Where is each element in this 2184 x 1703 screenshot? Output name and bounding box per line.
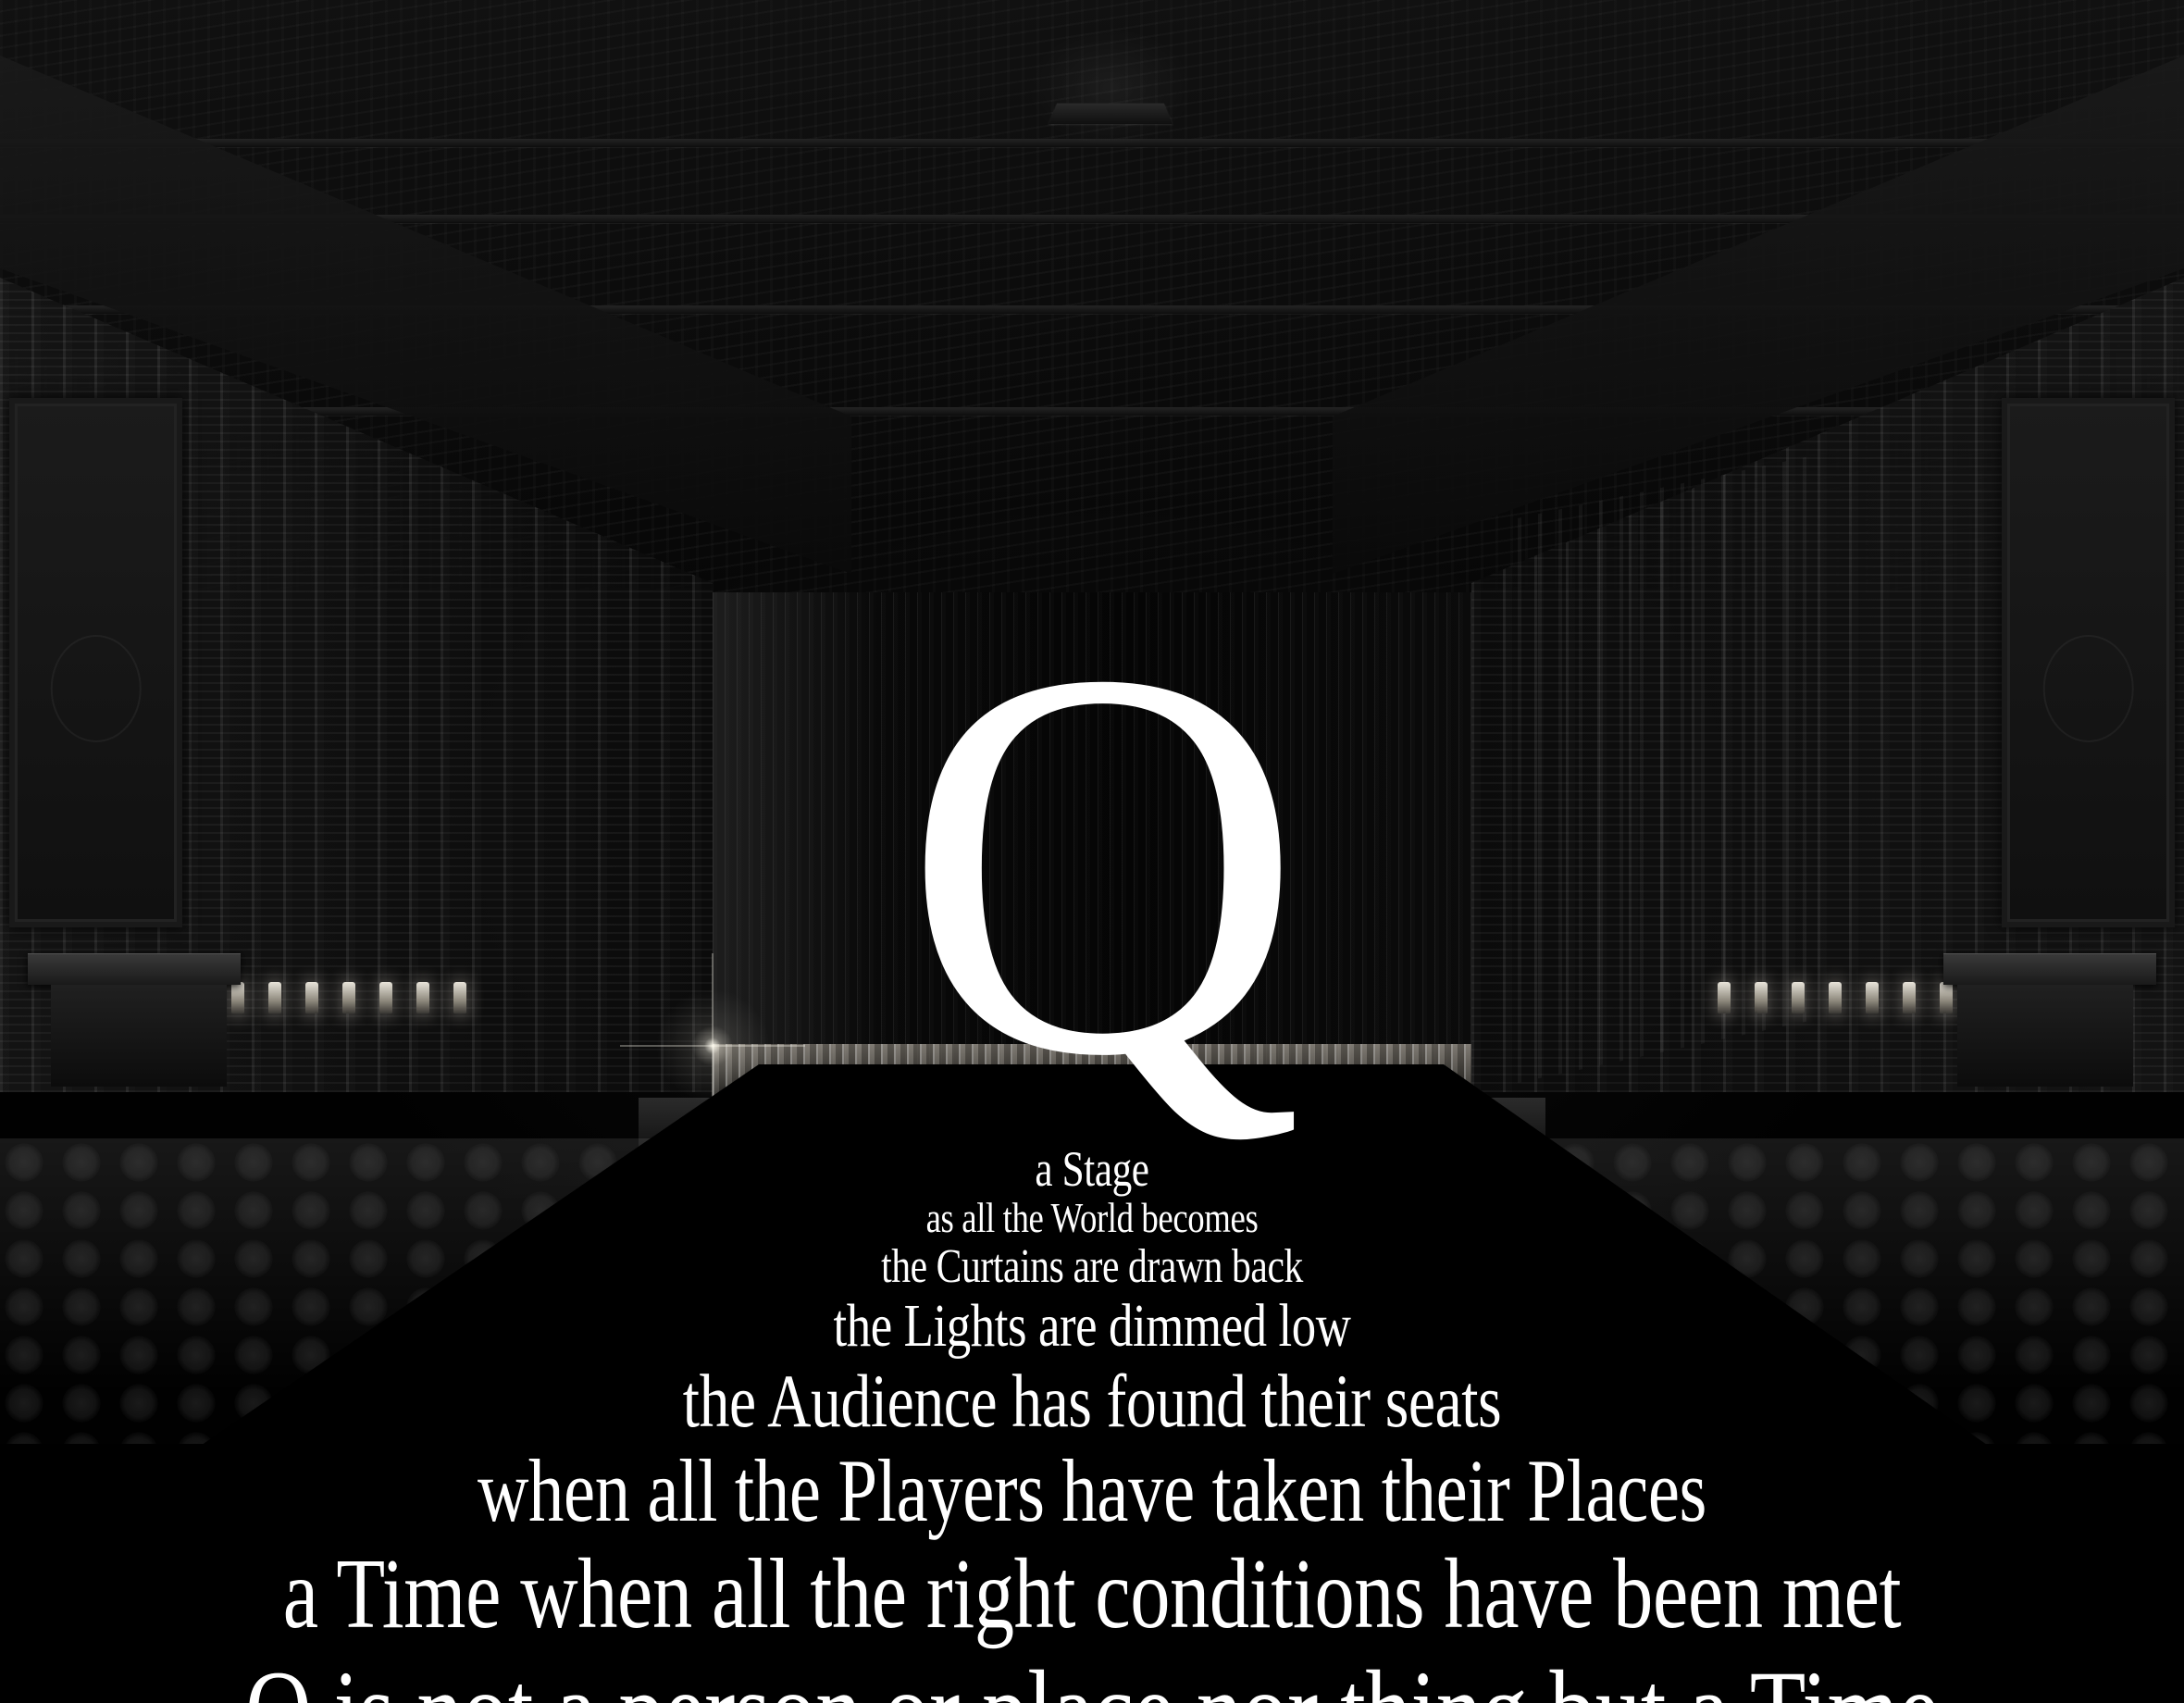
verse-line-7: a Time when all the right conditions hav… [218, 1544, 1966, 1646]
q-monogram: Q [902, 566, 1300, 1159]
column-plinth-right [1943, 953, 2156, 985]
wall-lamp-icon [1792, 982, 1805, 1013]
verse-line-1: a Stage [218, 1144, 1966, 1195]
verse-line-5: the Audience has found their seats [218, 1362, 1966, 1440]
wall-ledge-right [1957, 985, 2133, 1087]
wall-lamp-row-left [194, 976, 639, 1013]
verse-line-6: when all the Players have taken their Pl… [218, 1446, 1966, 1536]
wall-panel-left [9, 398, 182, 927]
wall-lamp-icon [1903, 982, 1916, 1013]
wall-lamp-icon [268, 982, 281, 1013]
wall-lamp-icon [379, 982, 392, 1013]
wall-lamp-icon [1866, 982, 1879, 1013]
wall-lamp-icon [231, 982, 244, 1013]
wall-lamp-icon [1755, 982, 1768, 1013]
wall-panel-right [2002, 398, 2175, 927]
wall-lamp-icon [1829, 982, 1842, 1013]
wall-lamp-icon [453, 982, 466, 1013]
wall-lamp-icon [1718, 982, 1731, 1013]
verse-text-block: a Stage as all the World becomes the Cur… [0, 1144, 2184, 1703]
verse-line-8: Q is not a person or place nor thing but… [218, 1653, 1966, 1703]
wall-lamp-icon [1940, 982, 1953, 1013]
wall-lamp-row-right [1545, 976, 1990, 1013]
wall-lamp-icon [342, 982, 355, 1013]
theater-scene: Q a Stage as all the World becomes the C… [0, 0, 2184, 1703]
verse-line-2: as all the World becomes [218, 1197, 1966, 1240]
ceiling-molding-band [0, 407, 2184, 416]
verse-line-3: the Curtains are drawn back [218, 1242, 1966, 1291]
verse-line-4: the Lights are dimmed low [218, 1295, 1966, 1357]
wall-lamp-icon [305, 982, 318, 1013]
wall-ledge-left [51, 985, 227, 1087]
column-plinth-left [28, 953, 241, 985]
ceiling-cartouche-ornament [1027, 28, 1194, 148]
wall-lamp-icon [416, 982, 429, 1013]
